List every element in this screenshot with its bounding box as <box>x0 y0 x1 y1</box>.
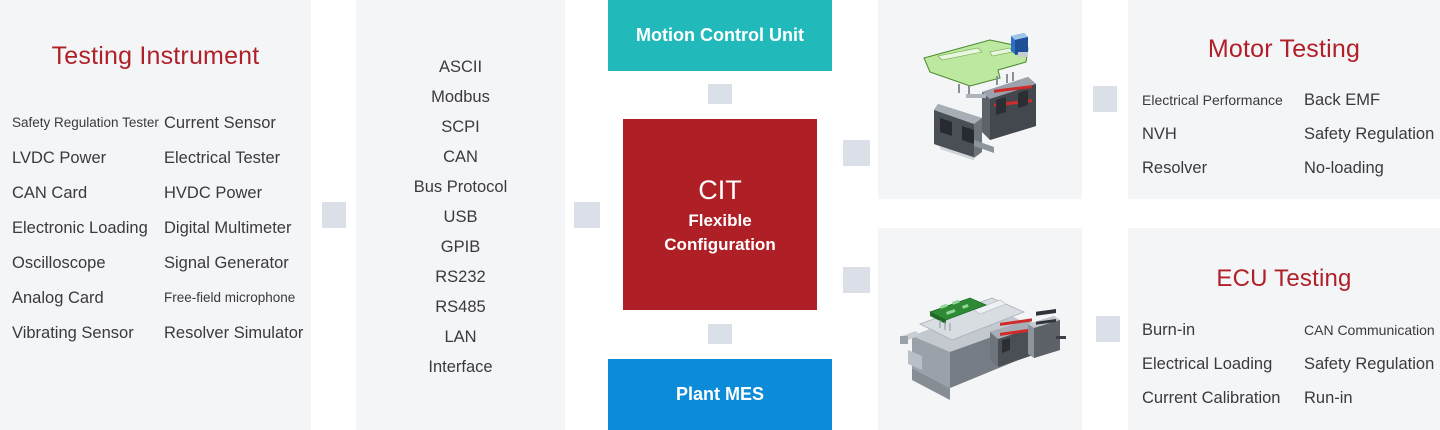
list-item: Current Sensor <box>164 112 303 134</box>
list-item: Current Calibration <box>1142 387 1304 409</box>
list-item: Run-in <box>1304 387 1435 409</box>
connector-machine-top-to-motor <box>1093 86 1117 112</box>
box-motion-control-unit[interactable]: Motion Control Unit <box>608 0 832 71</box>
list-item: Vibrating Sensor <box>12 322 164 344</box>
list-item: Electrical Tester <box>164 147 303 169</box>
list-item: RS232 <box>356 262 565 292</box>
list-item: Safety Regulation Tester <box>12 112 164 134</box>
panel-title-testing-instrument: Testing Instrument <box>0 42 311 71</box>
connector-protocols-to-cit <box>574 202 600 228</box>
connector-motion-to-cit <box>708 84 732 104</box>
list-item: Analog Card <box>12 287 164 309</box>
list-item: Electrical Loading <box>1142 353 1304 375</box>
motor-testing-list: Electrical Performance Back EMF NVH Safe… <box>1142 89 1434 179</box>
box-label-plant-mes: Plant MES <box>676 384 764 405</box>
list-item: No-loading <box>1304 157 1434 179</box>
instrument-list: Safety Regulation Tester Current Sensor … <box>12 112 301 344</box>
list-item: ASCII <box>356 52 565 82</box>
list-item: Digital Multimeter <box>164 217 303 239</box>
panel-ecu-testing: ECU Testing Burn-in CAN Communication El… <box>1128 228 1440 430</box>
box-plant-mes[interactable]: Plant MES <box>608 359 832 430</box>
connector-instruments-to-protocols <box>322 202 346 228</box>
list-item: NVH <box>1142 123 1304 145</box>
panel-ecu-test-machine <box>878 228 1082 430</box>
connector-cit-to-mes <box>708 324 732 344</box>
panel-motor-testing: Motor Testing Electrical Performance Bac… <box>1128 0 1440 199</box>
panel-title-ecu-testing: ECU Testing <box>1128 265 1440 293</box>
protocol-list: ASCII Modbus SCPI CAN Bus Protocol USB G… <box>356 52 565 382</box>
box-label-motion-control-unit: Motion Control Unit <box>636 25 804 46</box>
list-item: Modbus <box>356 82 565 112</box>
panel-motor-test-machine <box>878 0 1082 199</box>
cit-title: CIT <box>698 173 742 207</box>
list-item: Safety Regulation <box>1304 123 1434 145</box>
list-item: SCPI <box>356 112 565 142</box>
diagram-canvas: Testing Instrument Safety Regulation Tes… <box>0 0 1440 430</box>
list-item: Safety Regulation <box>1304 353 1435 375</box>
ecu-testing-list: Burn-in CAN Communication Electrical Loa… <box>1142 319 1434 409</box>
list-item: CAN Communication <box>1304 319 1435 341</box>
list-item: RS485 <box>356 292 565 322</box>
motor-test-fixture-icon <box>878 0 1082 199</box>
list-item: LVDC Power <box>12 147 164 169</box>
list-item: Interface <box>356 352 565 382</box>
list-item: CAN Card <box>12 182 164 204</box>
connector-machine-bottom-to-ecu <box>1096 316 1120 342</box>
panel-title-motor-testing: Motor Testing <box>1128 35 1440 64</box>
list-item: USB <box>356 202 565 232</box>
list-item: Bus Protocol <box>356 172 565 202</box>
list-item: Burn-in <box>1142 319 1304 341</box>
connector-cit-to-machine-bottom <box>843 267 870 293</box>
list-item: CAN <box>356 142 565 172</box>
list-item: LAN <box>356 322 565 352</box>
list-item: Resolver <box>1142 157 1304 179</box>
box-cit[interactable]: CIT Flexible Configuration <box>623 119 817 310</box>
connector-cit-to-machine-top <box>843 140 870 166</box>
cit-subtitle-line1: Flexible <box>688 209 751 233</box>
list-item: Oscilloscope <box>12 252 164 274</box>
cit-subtitle-line2: Configuration <box>664 233 775 257</box>
ecu-test-fixture-icon <box>878 228 1082 430</box>
list-item: Electronic Loading <box>12 217 164 239</box>
list-item: Free-field microphone <box>164 287 303 309</box>
list-item: Resolver Simulator <box>164 322 303 344</box>
list-item: HVDC Power <box>164 182 303 204</box>
list-item: Back EMF <box>1304 89 1434 111</box>
list-item: Electrical Performance <box>1142 89 1304 111</box>
list-item: GPIB <box>356 232 565 262</box>
list-item: Signal Generator <box>164 252 303 274</box>
panel-bus-protocols: ASCII Modbus SCPI CAN Bus Protocol USB G… <box>356 0 565 430</box>
panel-testing-instrument: Testing Instrument Safety Regulation Tes… <box>0 0 311 430</box>
